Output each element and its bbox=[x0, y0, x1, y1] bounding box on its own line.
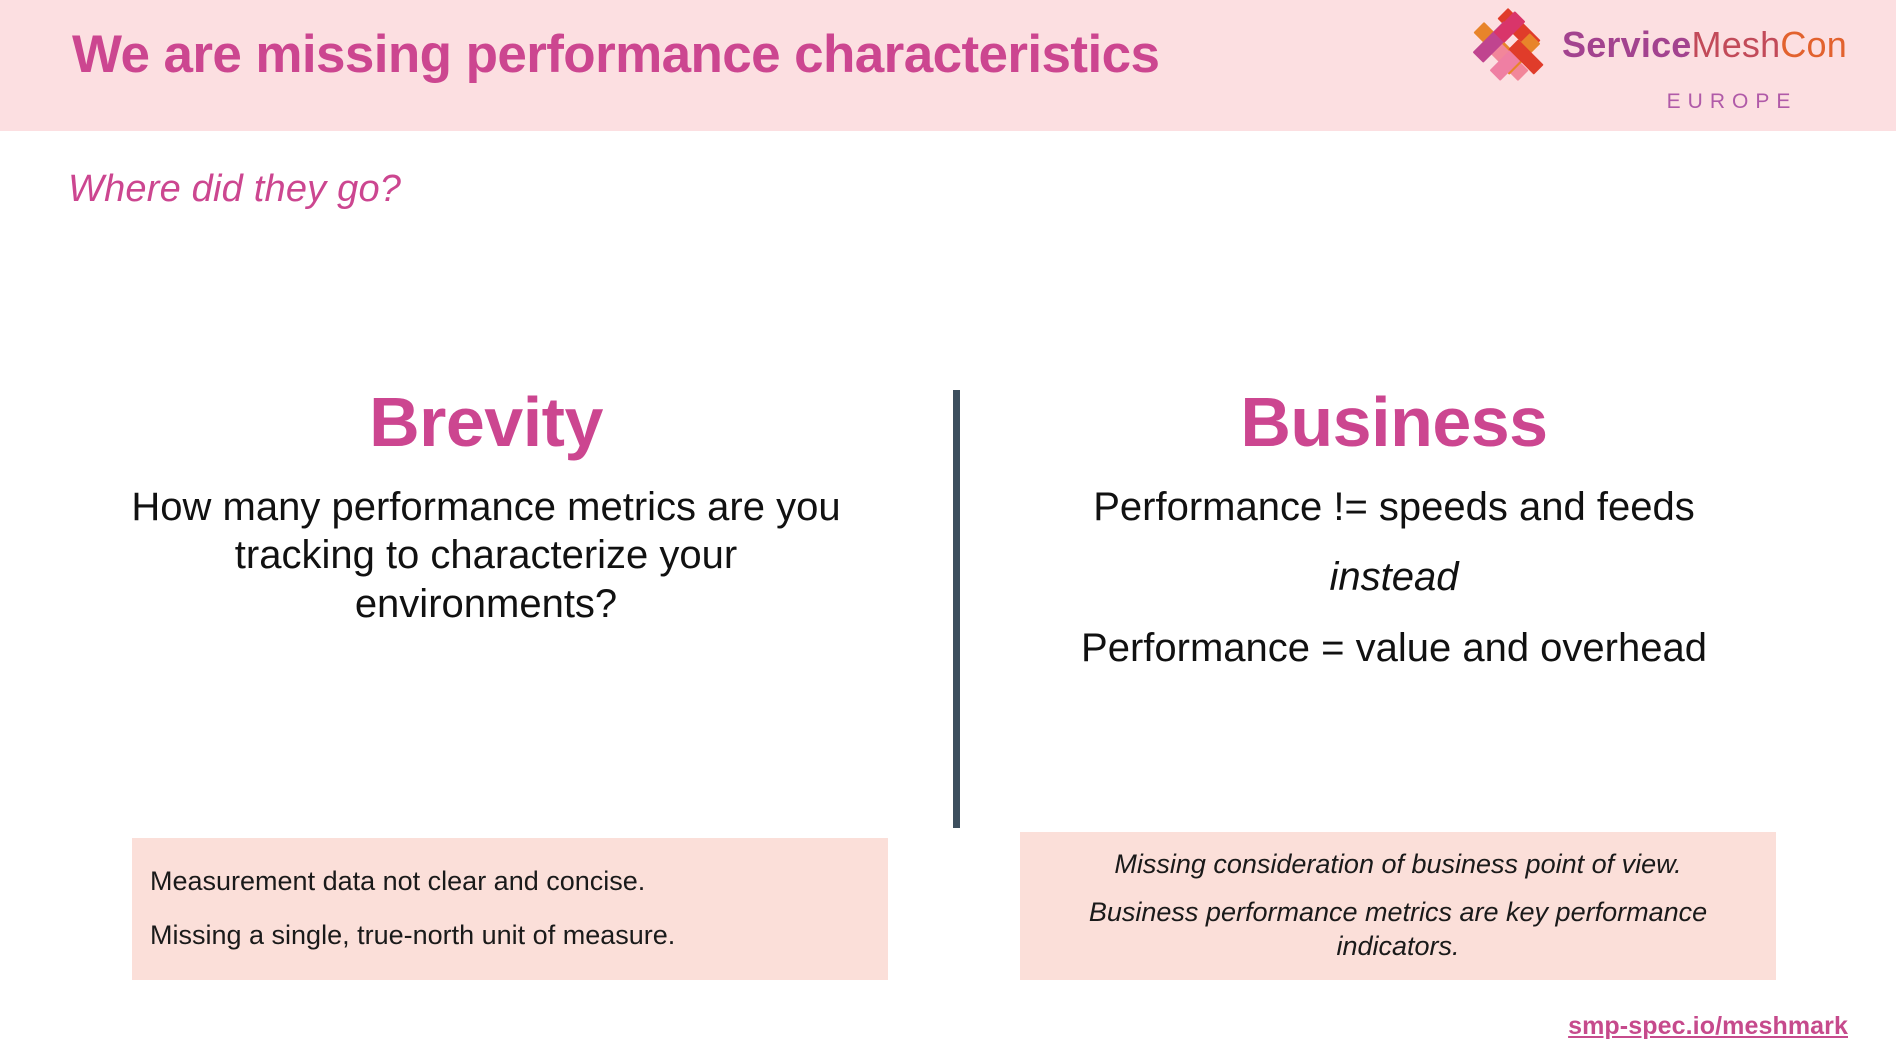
callout-business-line-1: Missing consideration of business point … bbox=[1042, 848, 1754, 882]
callout-brevity-line-1: Measurement data not clear and concise. bbox=[150, 865, 870, 899]
logo-word-mesh: Mesh bbox=[1692, 24, 1781, 65]
column-heading-business: Business bbox=[1014, 385, 1774, 461]
callout-brevity-line-2: Missing a single, true-north unit of mea… bbox=[150, 919, 870, 953]
column-business: Business Performance != speeds and feeds… bbox=[1014, 385, 1774, 673]
column-heading-brevity: Brevity bbox=[86, 385, 886, 461]
callout-business-line-2: Business performance metrics are key per… bbox=[1042, 896, 1754, 964]
column-divider bbox=[953, 390, 960, 828]
column-body-brevity: How many performance metrics are you tra… bbox=[86, 483, 886, 629]
slide-canvas: We are missing performance characteristi… bbox=[0, 0, 1896, 1063]
logo-row: ServiceMeshCon bbox=[1468, 8, 1847, 82]
slide-subtitle: Where did they go? bbox=[68, 168, 401, 211]
business-line-3: Performance = value and overhead bbox=[1014, 624, 1774, 673]
business-line-2: instead bbox=[1014, 553, 1774, 602]
business-line-1: Performance != speeds and feeds bbox=[1014, 483, 1774, 532]
callout-brevity: Measurement data not clear and concise. … bbox=[132, 838, 888, 980]
logo-region-label: EUROPE bbox=[1586, 90, 1878, 114]
page-title: We are missing performance characteristi… bbox=[72, 24, 1452, 85]
logo-word-con: Con bbox=[1780, 24, 1847, 65]
logo-wordmark: ServiceMeshCon bbox=[1562, 27, 1847, 63]
column-body-business: Performance != speeds and feeds instead … bbox=[1014, 483, 1774, 673]
column-brevity: Brevity How many performance metrics are… bbox=[86, 385, 886, 629]
footer-spec-link[interactable]: smp-spec.io/meshmark bbox=[1568, 1012, 1848, 1041]
servicemeshcon-logo: ServiceMeshCon EUROPE bbox=[1468, 8, 1878, 124]
logo-word-service: Service bbox=[1562, 24, 1692, 65]
callout-business: Missing consideration of business point … bbox=[1020, 832, 1776, 980]
servicemeshcon-diamond-mark-icon bbox=[1468, 8, 1548, 82]
